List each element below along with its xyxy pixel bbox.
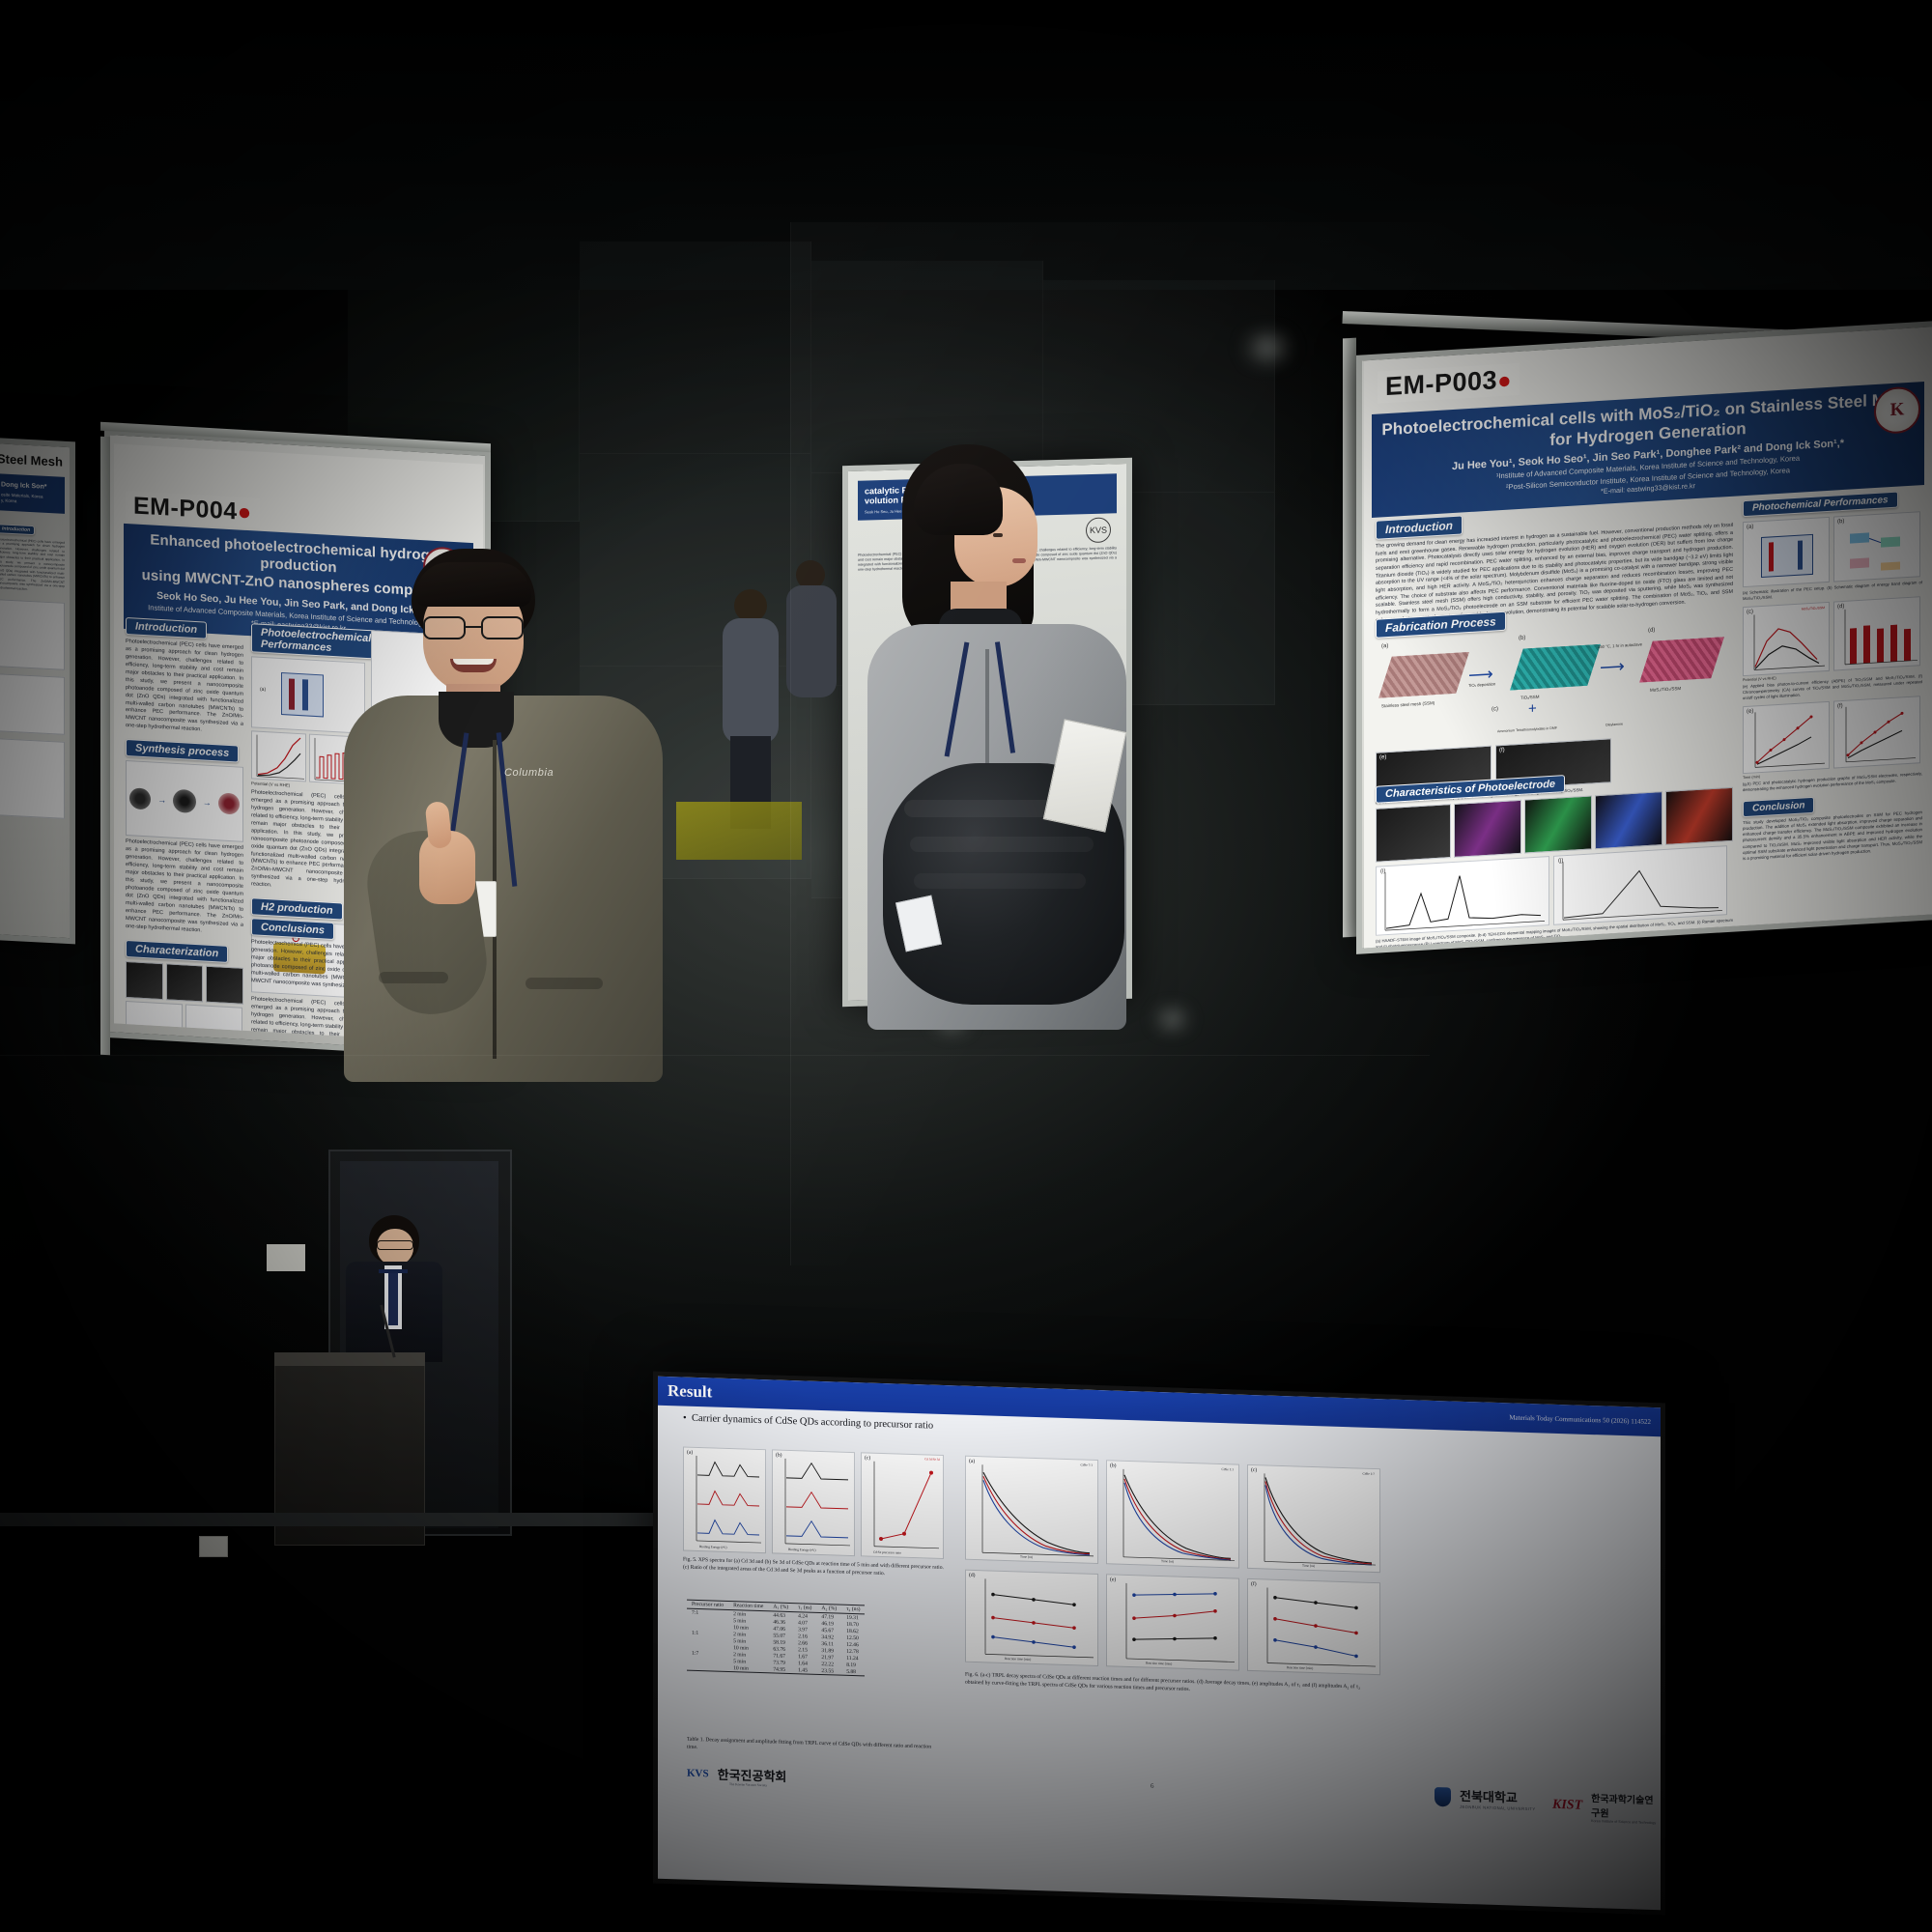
figure-xps-area-ratio: (c) Cd 3d/Se 3d Cd:Se precursor ratio (861, 1452, 944, 1559)
kist-logo-text: KIST (1552, 1798, 1582, 1814)
section-header-characterization: Characterization (126, 939, 228, 962)
figure-eds-map-s (1595, 791, 1662, 849)
person-background-right (784, 560, 838, 782)
figure-trpl-1-1: (b) CdSe 1:1 Time (ns) (1106, 1460, 1239, 1568)
slide-journal-reference: Materials Today Communications 50 (2026)… (1509, 1413, 1651, 1426)
table-cell: 74.95 (768, 1665, 793, 1673)
figure-xps-cd3d: (a) Binding Energy (eV) Intensity (a.u.) (683, 1447, 766, 1554)
xps-legend-c: Cd 3d/Se 3d (924, 1457, 940, 1462)
figure-amplitude-a1: (e) Reaction time (min) (1106, 1574, 1239, 1670)
figure-pec-setup: (a) (1743, 517, 1830, 587)
kvs-logo-korean: 한국진공학회 (718, 1765, 787, 1785)
figure-synthesis-diagram: → → (126, 760, 243, 842)
section-header-introduction-right: Introduction (1376, 515, 1463, 539)
trpl-legend-c: CdSe 1:7 (1362, 1472, 1375, 1477)
fab-reagent-2: Oleylamine (1605, 723, 1623, 727)
table-body: 7:12 min44.634.2447.1919.315 min46.364.0… (687, 1608, 865, 1676)
xps-c-xlabel: Cd:Se precursor ratio (873, 1550, 901, 1556)
mesh-tio2 (1510, 644, 1601, 691)
poster-id-text-right: EM-P003 (1385, 365, 1497, 401)
figure-lsv-curve (251, 730, 306, 781)
poster-id-text: EM-P004 (133, 492, 238, 525)
far-left-affil-fragment: osite Materials, Korea y, Korea (1, 492, 61, 506)
figure-h2-generation-pec: (e) (1743, 701, 1830, 774)
figure-eds-map-mo (1454, 800, 1521, 858)
speaker-lanyard (379, 1269, 408, 1273)
figure-sem-3 (206, 965, 243, 1004)
logo-row-jbnu: 전북대학교 JEONBUK NATIONAL UNIVERSITY (1435, 1785, 1536, 1811)
floor-yellow-mat (676, 802, 802, 860)
jacket-brand-label: Columbia (504, 767, 554, 779)
xps-a-xlabel: Binding Energy (eV) (699, 1545, 727, 1549)
mesh-ssm (1378, 652, 1469, 698)
figure-band-diagram: (b) (1833, 511, 1920, 582)
figure-h2-generation-photocatalytic: (f) (1833, 696, 1920, 768)
poster-frame-left-rail (100, 437, 110, 1056)
jbnu-shield-icon (1435, 1787, 1451, 1807)
figure-pl-spectrum: (j) (1553, 845, 1727, 925)
slide-fig6-caption: Fig. 6. (a-c) TRPL decay spectra of CdSe… (965, 1672, 1371, 1699)
xps-label-a: (a) (687, 1450, 693, 1458)
figure-trpl-1-7: (c) CdSe 1:7 Time (ns) (1247, 1464, 1380, 1573)
poster-frame-right-rail (1343, 338, 1356, 938)
ceiling-light-1 (1236, 333, 1298, 362)
section-header-conclusions: Conclusions (251, 918, 334, 940)
section-header-conclusion-right: Conclusion (1743, 796, 1814, 816)
kvs-logo-text: KVS (687, 1767, 709, 1779)
poster-id-marker-dot: ● (238, 498, 252, 526)
trpl-c-xlabel: Time (ns) (1302, 1564, 1315, 1569)
screenshot-root: Steel Mesh Dong Ick Son* osite Materials… (0, 0, 1932, 1932)
far-left-id-fragment: Steel Mesh (0, 451, 65, 469)
xps-label-b: (b) (776, 1453, 782, 1461)
figure-sem-2 (166, 963, 204, 1002)
figure-trpl-7-1: (a) CdSe 7:1 Time (ns) (965, 1456, 1098, 1564)
fab-step-1: Stainless steel mesh (SSM) (1381, 700, 1435, 708)
kist-logo-korean: 한국과학기술연구원 (1591, 1790, 1661, 1821)
fab-label-d: (d) (1648, 628, 1655, 634)
panel-label-d: (d) (969, 1573, 976, 1580)
jbnu-logo-korean: 전북대학교 (1460, 1786, 1536, 1806)
poster-id-marker-dot-right: ● (1497, 367, 1512, 394)
figure-eds-map-fe (1665, 787, 1733, 845)
person-background-left (719, 589, 781, 831)
person-presenter-man: Columbia (338, 541, 676, 1082)
slide-figure-row-def: (d) Reaction time (min) (e) (965, 1570, 1380, 1676)
person-attendee-woman (850, 444, 1159, 1043)
figure-eds-map-ti (1524, 795, 1592, 853)
fab-label-a: (a) (1381, 643, 1388, 649)
slide-bullet-text: Carrier dynamics of CdSe QDs according t… (692, 1413, 933, 1432)
slide-section-title: Result (668, 1381, 712, 1402)
fab-label-c: (c) (1492, 706, 1498, 712)
fab-step-4: 250 °C, 1 hr in autoclave (1598, 641, 1642, 649)
table-cell (687, 1663, 728, 1672)
fab-step-5: MoS₂/TiO₂/SSM (1650, 686, 1681, 693)
fab-reagent-1: Ammonium Tetrathiomolybdate in DMF (1497, 726, 1557, 734)
figure-amplitude-a2: (f) Reaction time (min) (1247, 1578, 1380, 1675)
panel-f-xlabel: Reaction time (min) (1287, 1666, 1313, 1671)
seal-letter-right: K (1890, 399, 1905, 421)
slide-fig5-caption: Fig. 5. XPS spectra for (a) Cd 3d and (b… (683, 1557, 944, 1580)
table-cell: 1.45 (793, 1666, 816, 1674)
jbnu-logo-english: JEONBUK NATIONAL UNIVERSITY (1460, 1804, 1536, 1811)
figure-xps-se3d: (b) Binding Energy (eV) (772, 1449, 855, 1556)
figure-decay-time: (d) Reaction time (min) (965, 1570, 1098, 1666)
poster-right-performances: Photochemical Performances (a) (b) (1743, 488, 1922, 862)
slide-figure-row-trpl: (a) CdSe 7:1 Time (ns) (b) CdSe 1:1 (965, 1456, 1380, 1574)
figure-raman-spectrum: (i) (1376, 856, 1549, 936)
slide-table-caption: Table 1. Decay assignment and amplitude … (687, 1737, 940, 1759)
power-outlet (199, 1536, 228, 1557)
figure-current-density-bars: (d) (1833, 596, 1920, 670)
figure-sem-1 (126, 960, 163, 999)
wall-notice (267, 1244, 305, 1271)
panel-label-f: (f) (1251, 1581, 1257, 1589)
panel-label-e: (e) (1110, 1577, 1116, 1584)
far-left-body: Photoelectrochemical (PEC) cells have em… (0, 537, 65, 593)
section-header-synthesis: Synthesis process (126, 739, 239, 763)
man-hair-fringe (415, 562, 531, 607)
trpl-legend-a: CdSe 7:1 (1080, 1463, 1093, 1467)
kist-logo-english: Korea Institute of Science and Technolog… (1591, 1819, 1661, 1825)
poster-left-col-1: Introduction Photoelectrochemical (PEC) … (126, 616, 243, 1044)
slide-decay-table: Precursor ratio Reaction time A₁ (%) τ₁ … (687, 1600, 865, 1677)
table-cell: 23.55 (816, 1667, 841, 1675)
poster-right-characteristics: Characteristics of Photoelectrode (i) (1376, 764, 1733, 949)
far-left-section-header: Introduction (0, 524, 35, 535)
composite-seam-horizontal (0, 1055, 1430, 1056)
poster-left-intro-text: Photoelectrochemical (PEC) cells have em… (126, 639, 243, 737)
composite-seam-vertical (790, 222, 791, 1265)
xps-b-xlabel: Binding Energy (eV) (788, 1548, 816, 1552)
slide-figure-row-xps: (a) Binding Energy (eV) Intensity (a.u.)… (683, 1447, 944, 1559)
logo-row-kist: KIST 한국과학기술연구원 Korea Institute of Scienc… (1552, 1789, 1661, 1826)
trpl-legend-b: CdSe 1:1 (1221, 1467, 1234, 1472)
ceiling (0, 0, 1932, 290)
floor-baseboard (0, 1513, 676, 1526)
speaker-necktie (388, 1273, 398, 1325)
poster-right-conclusion-text: This study developed MoS₂/TiO₂ composite… (1743, 810, 1922, 863)
figure-haadf-stem (1376, 804, 1451, 863)
section-header-introduction-left: Introduction (126, 617, 207, 639)
figure-abpe-plot: (c) MoS₂/TiO₂/SSM (1743, 602, 1830, 676)
speaker-glasses-icon (377, 1240, 413, 1250)
panel-d-xlabel: Reaction time (min) (1005, 1657, 1031, 1662)
slide-page-number: 6 (1151, 1782, 1154, 1790)
far-left-title-fragment: Dong Ick Son* (1, 480, 61, 492)
panel-e-xlabel: Reaction time (min) (1146, 1662, 1172, 1666)
poster-em-p003[interactable]: EM-P003● Photoelectrochemical cells with… (1364, 327, 1932, 949)
poster-left-synthesis-text: Photoelectrochemical (PEC) cells have em… (126, 838, 243, 937)
fab-step-2: TiOₓ deposition (1468, 681, 1495, 688)
trpl-b-xlabel: Time (ns) (1161, 1559, 1174, 1564)
fab-label-b: (b) (1519, 636, 1525, 641)
table-cell: 10 min (728, 1664, 768, 1673)
poster-id-em-p004: EM-P004● (126, 491, 260, 528)
presentation-screen[interactable]: Result Materials Today Communications 50… (653, 1372, 1665, 1916)
mesh-mos2 (1639, 637, 1724, 682)
glasses-icon (421, 616, 526, 639)
kvs-logo-english: The Korean Vacuum Society (729, 1782, 767, 1788)
trpl-a-xlabel: Time (ns) (1020, 1555, 1033, 1560)
poster-board-far-left: Steel Mesh Dong Ick Son* osite Materials… (0, 438, 75, 945)
poster-id-em-p003: EM-P003● (1378, 363, 1520, 404)
slide-content: Result Materials Today Communications 50… (658, 1377, 1661, 1911)
xps-label-c: (c) (865, 1455, 870, 1463)
table-cell: 5.88 (841, 1668, 865, 1676)
